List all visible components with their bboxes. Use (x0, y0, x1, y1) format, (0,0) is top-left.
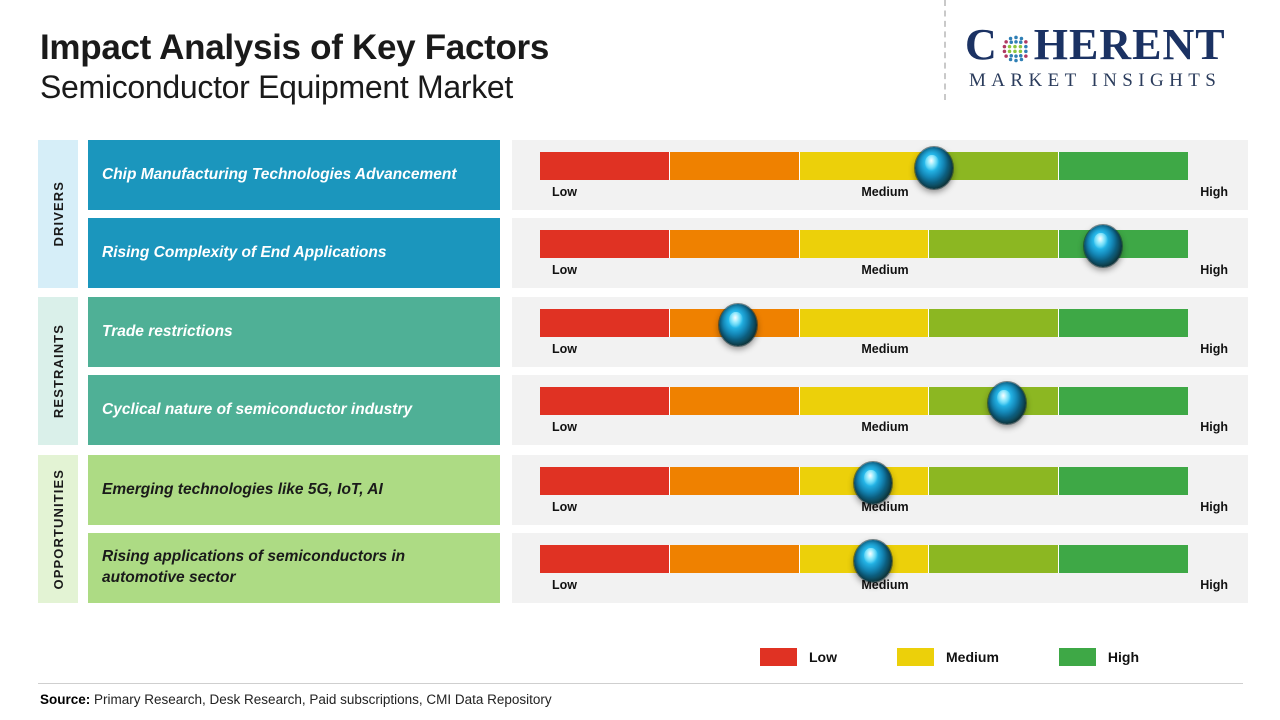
factor-label: Trade restrictions (88, 297, 500, 367)
factor-label: Chip Manufacturing Technologies Advancem… (88, 140, 500, 210)
category-label: DRIVERS (51, 181, 66, 247)
category-strip-opportunities: OPPORTUNITIES (38, 455, 78, 603)
gauge-scale-labels: LowMediumHigh (540, 185, 1230, 203)
gauge-scale-labels: LowMediumHigh (540, 500, 1230, 518)
gauge-segment-2 (669, 545, 799, 573)
impact-gauge[interactable]: LowMediumHigh (512, 375, 1248, 445)
logo-word-end: HERENT (1034, 23, 1226, 67)
source-label: Source: (40, 692, 90, 707)
impact-marker[interactable] (854, 540, 892, 582)
gauge-scale-labels: LowMediumHigh (540, 263, 1230, 281)
scale-label-low: Low (552, 185, 577, 199)
factor-label: Rising Complexity of End Applications (88, 218, 500, 288)
gauge-segment-2 (669, 387, 799, 415)
gauge-segment-2 (669, 152, 799, 180)
gauge-segment-2 (669, 467, 799, 495)
legend: LowMediumHigh (760, 644, 1220, 670)
gauge-segment-5 (1058, 467, 1188, 495)
legend-item: Medium (897, 648, 999, 666)
legend-swatch (1059, 648, 1096, 666)
impact-gauge[interactable]: LowMediumHigh (512, 533, 1248, 603)
scale-label-medium: Medium (861, 342, 908, 356)
company-logo: C (965, 22, 1265, 102)
gauge-segment-3 (799, 230, 929, 258)
factor-row: Emerging technologies like 5G, IoT, AILo… (88, 455, 1248, 525)
category-strip-drivers: DRIVERS (38, 140, 78, 288)
factor-row: Cyclical nature of semiconductor industr… (88, 375, 1248, 445)
gauge-segment-4 (928, 309, 1058, 337)
impact-gauge[interactable]: LowMediumHigh (512, 218, 1248, 288)
logo-word-start: C (965, 23, 998, 67)
scale-label-medium: Medium (861, 263, 908, 277)
scale-label-high: High (1200, 420, 1228, 434)
gauge-segment-5 (1058, 545, 1188, 573)
logo-tagline: MARKET INSIGHTS (969, 70, 1265, 92)
gauge-bar (540, 309, 1188, 337)
source-note: Source: Primary Research, Desk Research,… (40, 692, 552, 707)
factor-label: Emerging technologies like 5G, IoT, AI (88, 455, 500, 525)
gauge-segment-1 (540, 387, 669, 415)
title-block: Impact Analysis of Key Factors Semicondu… (40, 28, 549, 107)
factor-row: Trade restrictionsLowMediumHigh (88, 297, 1248, 367)
globe-dots-icon (999, 30, 1033, 64)
gauge-segment-3 (799, 387, 929, 415)
legend-label: High (1108, 649, 1139, 665)
impact-gauge[interactable]: LowMediumHigh (512, 455, 1248, 525)
factor-group: RESTRAINTSTrade restrictionsLowMediumHig… (38, 297, 1248, 445)
gauge-segment-4 (928, 467, 1058, 495)
impact-marker[interactable] (915, 147, 953, 189)
factor-group: DRIVERSChip Manufacturing Technologies A… (38, 140, 1248, 288)
legend-item: Low (760, 648, 837, 666)
scale-label-low: Low (552, 342, 577, 356)
factor-rows: Chip Manufacturing Technologies Advancem… (88, 140, 1248, 288)
logo-divider (944, 0, 946, 100)
impact-marker[interactable] (854, 462, 892, 504)
scale-label-high: High (1200, 263, 1228, 277)
scale-label-low: Low (552, 578, 577, 592)
page-header: Impact Analysis of Key Factors Semicondu… (0, 0, 1280, 130)
impact-gauge[interactable]: LowMediumHigh (512, 297, 1248, 367)
impact-gauge[interactable]: LowMediumHigh (512, 140, 1248, 210)
scale-label-medium: Medium (861, 185, 908, 199)
factor-row: Rising Complexity of End ApplicationsLow… (88, 218, 1248, 288)
gauge-segment-1 (540, 152, 669, 180)
scale-label-low: Low (552, 263, 577, 277)
scale-label-low: Low (552, 500, 577, 514)
scale-label-low: Low (552, 420, 577, 434)
gauge-segment-1 (540, 545, 669, 573)
logo-wordmark: C (965, 22, 1265, 68)
factor-row: Rising applications of semiconductors in… (88, 533, 1248, 603)
gauge-scale-labels: LowMediumHigh (540, 342, 1230, 360)
legend-item: High (1059, 648, 1139, 666)
gauge-segment-3 (799, 309, 929, 337)
scale-label-high: High (1200, 500, 1228, 514)
impact-marker[interactable] (988, 382, 1026, 424)
legend-label: Medium (946, 649, 999, 665)
factor-rows: Trade restrictionsLowMediumHighCyclical … (88, 297, 1248, 445)
gauge-segment-4 (928, 545, 1058, 573)
factor-label: Rising applications of semiconductors in… (88, 533, 500, 603)
page-subtitle: Semiconductor Equipment Market (40, 69, 549, 107)
scale-label-high: High (1200, 578, 1228, 592)
category-label: OPPORTUNITIES (51, 469, 66, 589)
gauge-segment-1 (540, 467, 669, 495)
factor-row: Chip Manufacturing Technologies Advancem… (88, 140, 1248, 210)
gauge-scale-labels: LowMediumHigh (540, 578, 1230, 596)
category-label: RESTRAINTS (51, 324, 66, 418)
impact-marker[interactable] (1084, 225, 1122, 267)
gauge-segment-2 (669, 230, 799, 258)
legend-swatch (760, 648, 797, 666)
gauge-segment-5 (1058, 230, 1188, 258)
impact-marker[interactable] (719, 304, 757, 346)
factor-group: OPPORTUNITIESEmerging technologies like … (38, 455, 1248, 603)
gauge-segment-5 (1058, 309, 1188, 337)
footer-divider (38, 683, 1243, 684)
category-strip-restraints: RESTRAINTS (38, 297, 78, 445)
factor-rows: Emerging technologies like 5G, IoT, AILo… (88, 455, 1248, 603)
gauge-segment-3 (799, 152, 929, 180)
gauge-bar (540, 387, 1188, 415)
factor-label: Cyclical nature of semiconductor industr… (88, 375, 500, 445)
scale-label-medium: Medium (861, 420, 908, 434)
legend-swatch (897, 648, 934, 666)
gauge-segment-1 (540, 230, 669, 258)
gauge-segment-5 (1058, 387, 1188, 415)
source-text: Primary Research, Desk Research, Paid su… (90, 692, 551, 707)
gauge-segment-1 (540, 309, 669, 337)
page-title: Impact Analysis of Key Factors (40, 28, 549, 67)
legend-label: Low (809, 649, 837, 665)
scale-label-high: High (1200, 342, 1228, 356)
scale-label-high: High (1200, 185, 1228, 199)
gauge-segment-4 (928, 230, 1058, 258)
gauge-bar (540, 152, 1188, 180)
impact-matrix: DRIVERSChip Manufacturing Technologies A… (0, 140, 1280, 615)
gauge-scale-labels: LowMediumHigh (540, 420, 1230, 438)
gauge-segment-5 (1058, 152, 1188, 180)
